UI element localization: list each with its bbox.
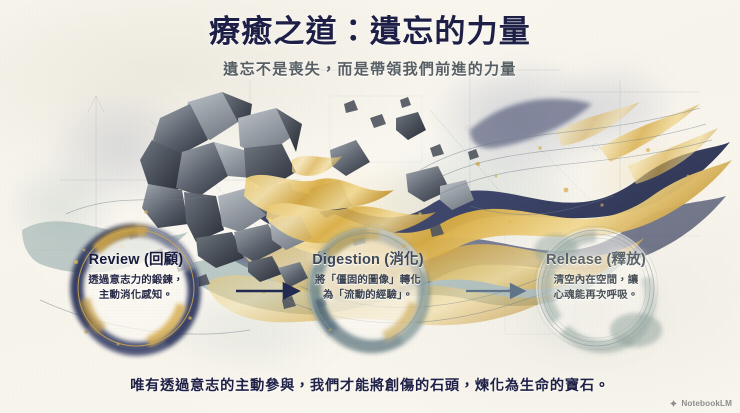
stage-digestion: Digestion (消化) 將「僵固的圖像」轉化 為「流動的經驗」。 [280,222,456,362]
notebooklm-spark-icon [669,399,678,408]
stage-review-desc-line-2: 主動消化感知。 [99,290,173,301]
stage-digestion-description: 將「僵固的圖像」轉化 為「流動的經驗」。 [280,273,456,303]
watermark: NotebookLM [669,399,732,408]
stage-review: Review (回顧) 透過意志力的鍛鍊， 主動消化感知。 [48,222,224,362]
process-stages: Review (回顧) 透過意志力的鍛鍊， 主動消化感知。 Digestion … [0,222,740,362]
stage-review-description: 透過意志力的鍛鍊， 主動消化感知。 [48,273,224,303]
stage-digestion-desc-line-2: 為「流動的經驗」。 [323,290,413,301]
stage-release-description: 清空內在空間，讓 心魂能再次呼吸。 [508,273,684,303]
stage-release-desc-line-1: 清空內在空間，讓 [554,275,639,286]
infographic-poster: 療癒之道：遺忘的力量 遺忘不是喪失，而是帶領我們前進的力量 Review (回顧… [0,0,740,413]
stage-review-title: Review (回顧) [48,251,224,269]
stage-release: Release (釋放) 清空內在空間，讓 心魂能再次呼吸。 [508,222,684,362]
footer-caption: 唯有透過意志的主動參與，我們才能將創傷的石頭，煉化為生命的寶石。 [0,375,740,395]
page-title: 療癒之道：遺忘的力量 [0,14,740,50]
header: 療癒之道：遺忘的力量 遺忘不是喪失，而是帶領我們前進的力量 [0,14,740,79]
stage-release-desc-line-2: 心魂能再次呼吸。 [554,290,639,301]
page-subtitle: 遺忘不是喪失，而是帶領我們前進的力量 [0,58,740,79]
watermark-label: NotebookLM [681,399,732,408]
stage-digestion-title: Digestion (消化) [280,251,456,269]
stage-release-title: Release (釋放) [508,251,684,269]
stage-digestion-desc-line-1: 將「僵固的圖像」轉化 [315,275,421,286]
stage-review-desc-line-1: 透過意志力的鍛鍊， [88,275,183,286]
